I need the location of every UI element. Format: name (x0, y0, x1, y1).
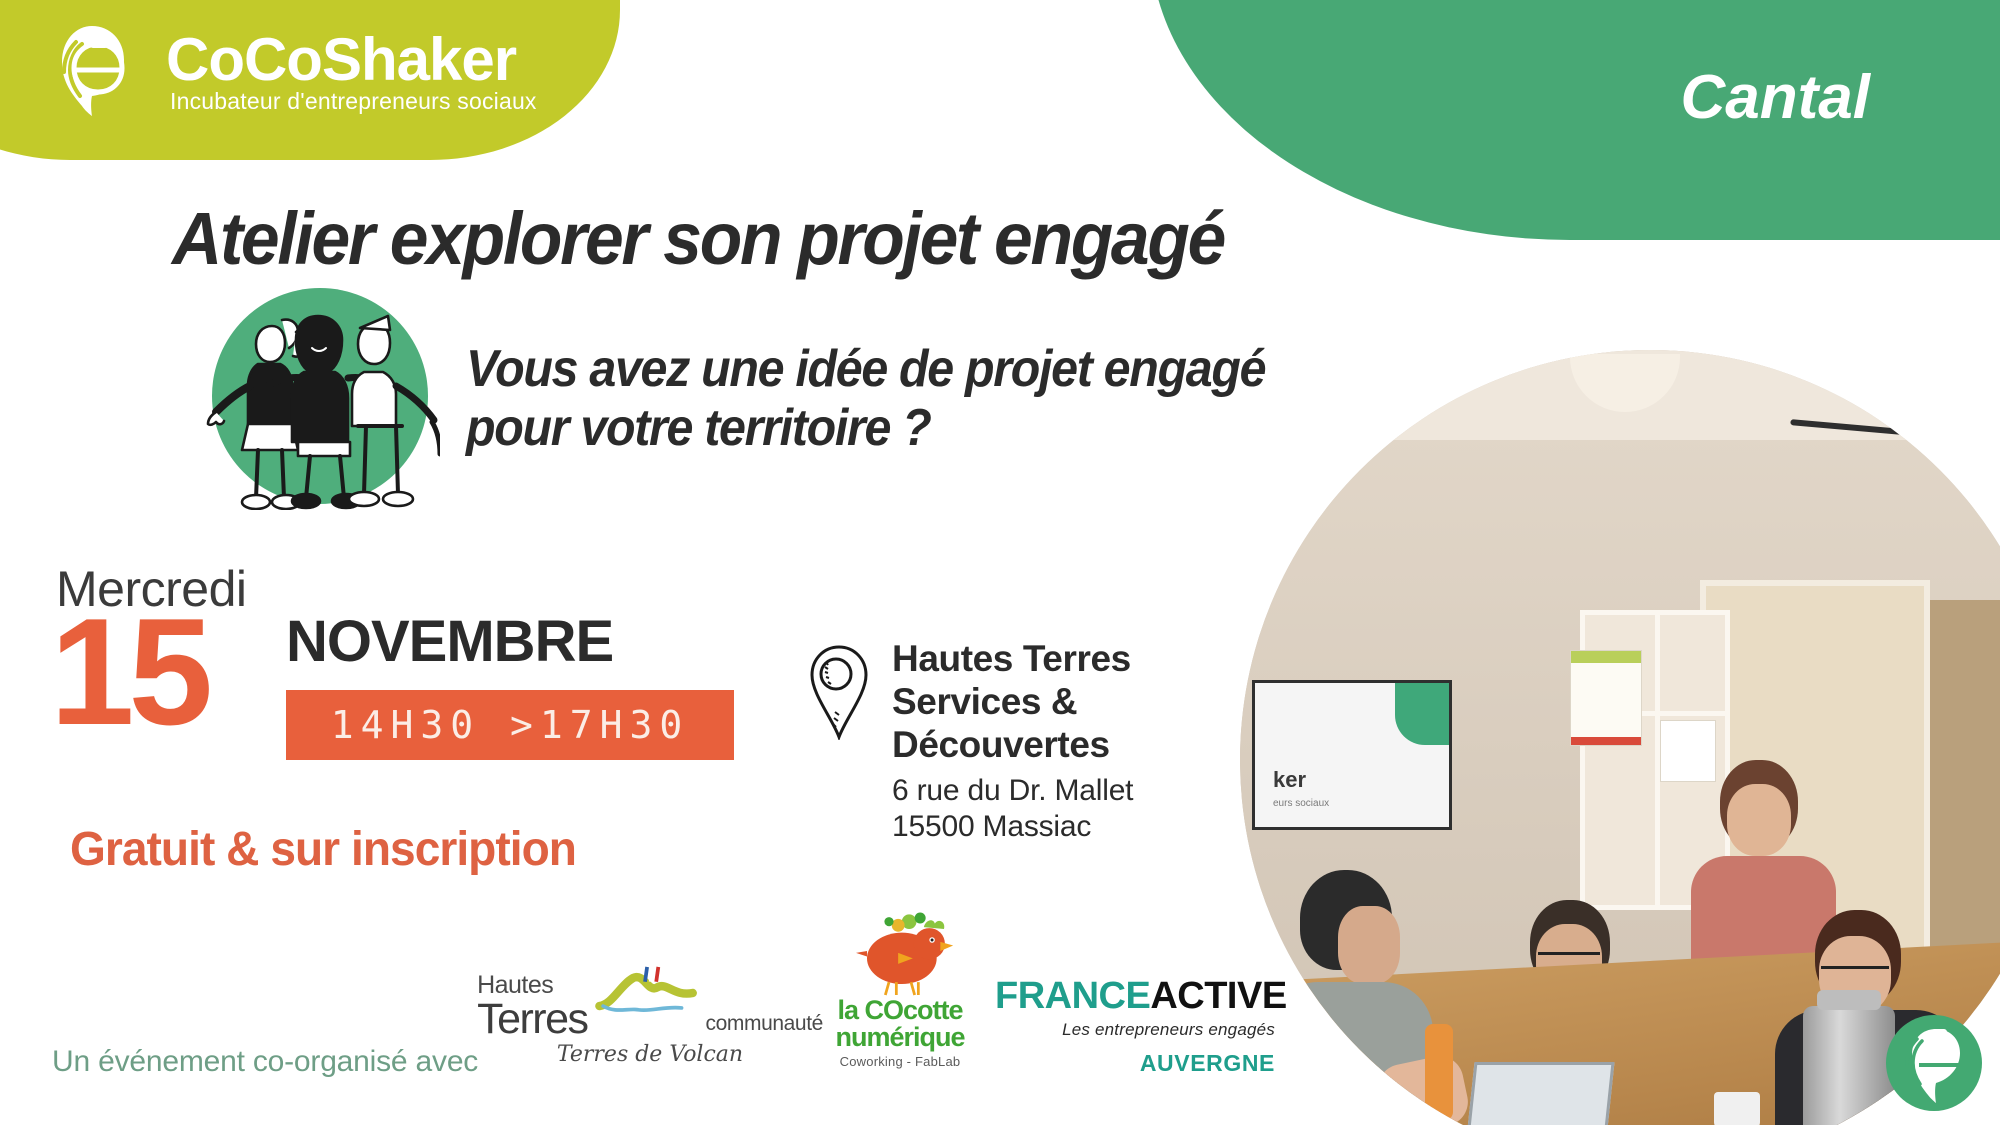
brand-name: CoCoShaker (166, 29, 537, 90)
ht-script: Terres de Volcan (525, 1042, 775, 1067)
hautes-terres-words: Hautes Terres (477, 973, 587, 1040)
three-people-icon (200, 282, 440, 510)
event-time: 14H30 >17H30 (331, 703, 690, 747)
venue-address: 6 rue du Dr. Mallet 15500 Massiac (892, 773, 1133, 845)
page-title: Atelier explorer son projet engagé (172, 196, 1224, 281)
venue-text: Hautes Terres Services & Découvertes 6 r… (892, 638, 1133, 845)
fa-region: AUVERGNE (995, 1050, 1275, 1077)
map-pin-icon (808, 644, 870, 740)
photo-presentation-screen: ker eurs sociaux (1252, 680, 1452, 830)
fa-tagline: Les entrepreneurs engagés (995, 1020, 1275, 1040)
mountain-logo-icon (594, 965, 700, 1026)
cocotte-sub: Coworking - FabLab (810, 1054, 990, 1069)
brand-logo: CoCoShaker Incubateur d'entrepreneurs so… (40, 18, 537, 122)
subtitle-line-2: pour votre territoire ? (466, 399, 1265, 458)
venue-name-line-2: Services & (892, 681, 1133, 724)
photo-laptop (1465, 1062, 1614, 1125)
subtitle-line-1: Vous avez une idée de projet engagé (466, 340, 1265, 399)
partner-cocotte: la COcotte numérique Coworking - FabLab (810, 905, 990, 1069)
hautes-terres-logo: Hautes Terres communauté (525, 965, 775, 1040)
partner-hautes-terres: Hautes Terres communauté Terres de Volca… (525, 965, 775, 1067)
photo-thermos (1803, 1006, 1895, 1125)
partners-intro: Un événement co-organisé avec (52, 1045, 478, 1079)
poster-root: CoCoShaker Incubateur d'entrepreneurs so… (0, 0, 2000, 1125)
cocotte-line-2: numérique (810, 1024, 990, 1051)
venue-block: Hautes Terres Services & Découvertes 6 r… (808, 638, 1133, 845)
subtitle: Vous avez une idée de projet engagé pour… (466, 340, 1265, 459)
venue-name: Hautes Terres Services & Découvertes (892, 638, 1133, 767)
brand-tagline: Incubateur d'entrepreneurs sociaux (166, 88, 537, 115)
brand-text: CoCoShaker Incubateur d'entrepreneurs so… (166, 25, 537, 115)
screen-subtext: eurs sociaux (1273, 798, 1329, 809)
hen-logo-icon (810, 905, 990, 997)
event-day: 15 (50, 596, 207, 748)
region-label: Cantal (1681, 62, 1870, 133)
price-note: Gratuit & sur inscription (70, 822, 576, 877)
france-active-wordmark: FRANCEACTIVE (995, 975, 1275, 1018)
shaker-badge-icon (1886, 1015, 1982, 1111)
cocotte-line-1: la COcotte (810, 997, 990, 1024)
fa-word-1: FRANCE (995, 975, 1150, 1017)
ht-word-2: Terres (477, 998, 587, 1040)
workshop-photo: ker eurs sociaux (1240, 350, 2000, 1125)
photo-mug (1714, 1092, 1760, 1125)
region-blob (1150, 0, 2000, 240)
event-month: NOVEMBRE (286, 608, 613, 675)
venue-name-line-1: Hautes Terres (892, 638, 1133, 681)
venue-address-line-2: 15500 Massiac (892, 809, 1133, 845)
ht-word-3: communauté (706, 1012, 823, 1036)
partner-france-active: FRANCEACTIVE Les entrepreneurs engagés A… (995, 975, 1275, 1077)
photo-bottle (1425, 1024, 1453, 1120)
shaker-icon (40, 18, 144, 122)
screen-green-shape (1395, 683, 1449, 745)
photo-scene: ker eurs sociaux (1240, 350, 2000, 1125)
venue-name-line-3: Découvertes (892, 724, 1133, 767)
event-time-bar: 14H30 >17H30 (286, 690, 734, 760)
venue-address-line-1: 6 rue du Dr. Mallet (892, 773, 1133, 809)
photo-wall-poster (1570, 650, 1642, 746)
screen-text: ker (1273, 767, 1306, 793)
